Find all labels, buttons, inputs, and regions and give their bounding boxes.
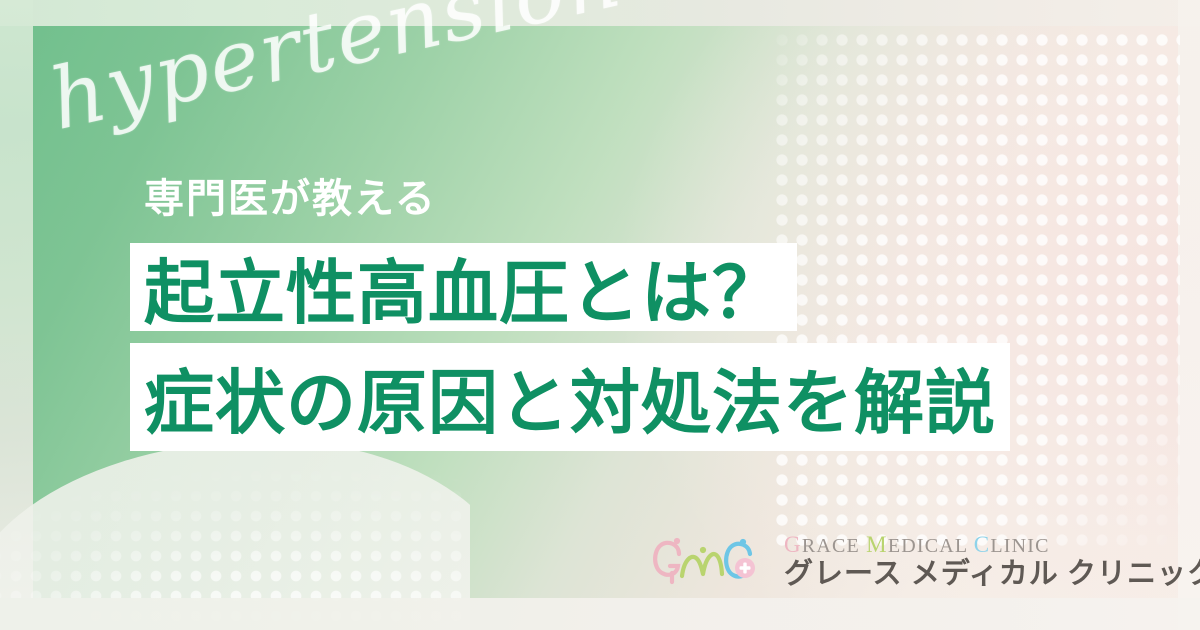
logo-name-en: GRACE MEDICAL CLINIC <box>784 533 1200 556</box>
title-line-1: 起立性高血圧とは？ <box>130 243 797 331</box>
og-image-canvas: hypertension 専門医が教える 起立性高血圧とは？ 症状の原因と対処法… <box>0 0 1200 630</box>
logo-text-block: GRACE MEDICAL CLINIC グレース メディカル クリニック <box>784 533 1200 590</box>
logo-name-jp: グレース メディカル クリニック <box>784 558 1200 590</box>
clinic-logo: GRACE MEDICAL CLINIC グレース メディカル クリニック <box>646 532 1200 592</box>
dot-pattern-top-right <box>768 26 1180 546</box>
background-bottom-band <box>0 598 1200 630</box>
title-line-2: 症状の原因と対処法を解説 <box>130 343 1010 451</box>
kicker-text: 専門医が教える <box>144 176 437 222</box>
gmc-monogram-icon <box>646 532 766 592</box>
